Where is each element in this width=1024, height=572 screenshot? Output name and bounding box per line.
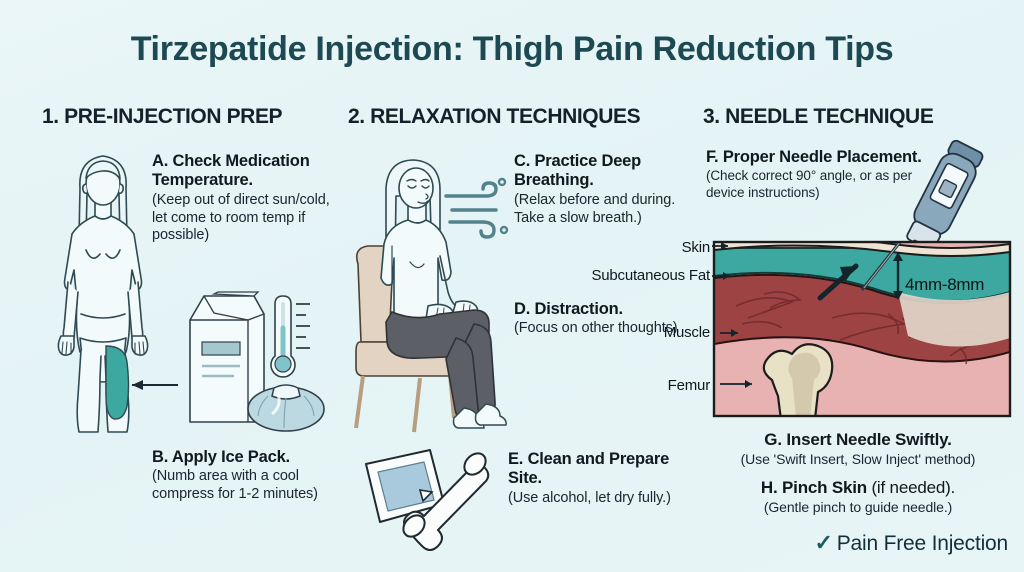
tip-b-heading: B. Apply Ice Pack. xyxy=(152,448,352,467)
tip-a-detail: (Keep out of direct sun/cold, let come t… xyxy=(152,192,348,245)
tip-f-heading: F. Proper Needle Placement. xyxy=(706,148,936,167)
tip-g-detail: (Use 'Swift Insert, Slow Inject' method) xyxy=(700,451,1016,468)
tip-h-heading-bold: H. Pinch Skin xyxy=(761,478,867,497)
tip-c-practice-deep-breathing: C. Practice Deep Breathing. (Relax befor… xyxy=(514,152,694,227)
tip-h-detail: (Gentle pinch to guide needle.) xyxy=(700,499,1016,516)
thigh-injection-site xyxy=(106,346,129,419)
tip-d-distraction: D. Distraction. (Focus on other thoughts… xyxy=(514,300,694,338)
tip-e-detail: (Use alcohol, let dry fully.) xyxy=(508,490,704,508)
tip-h-heading: H. Pinch Skin (if needed). xyxy=(700,478,1016,498)
tip-d-heading: D. Distraction. xyxy=(514,300,694,319)
tip-a-heading: A. Check Medication Temperature. xyxy=(152,152,348,191)
tip-a-check-medication-temperature: A. Check Medication Temperature. (Keep o… xyxy=(152,152,348,245)
section-heading-relaxation-techniques: 2. RELAXATION TECHNIQUES xyxy=(348,105,640,129)
tip-e-clean-and-prepare-site: E. Clean and Prepare Site. (Use alcohol,… xyxy=(508,450,704,508)
label-subcutaneous-fat-text: Subcutaneous Fat xyxy=(591,267,710,284)
tip-e-heading: E. Clean and Prepare Site. xyxy=(508,450,704,489)
tip-c-heading: C. Practice Deep Breathing. xyxy=(514,152,694,191)
label-skin: Skin xyxy=(640,240,710,256)
check-icon: ✓ xyxy=(814,530,832,555)
page-title: Tirzepatide Injection: Thigh Pain Reduct… xyxy=(0,30,1024,69)
section-heading-pre-injection-prep: 1. PRE-INJECTION PREP xyxy=(42,105,282,129)
tip-f-proper-needle-placement: F. Proper Needle Placement. (Check corre… xyxy=(706,148,936,201)
tip-b-detail: (Numb area with a cool compress for 1-2 … xyxy=(152,468,352,503)
infographic-poster: Tirzepatide Injection: Thigh Pain Reduct… xyxy=(0,0,1024,572)
tip-d-detail: (Focus on other thoughts) xyxy=(514,320,694,338)
tip-g-insert-needle-swiftly: G. Insert Needle Swiftly. (Use 'Swift In… xyxy=(700,430,1016,468)
pain-free-injection-label: Pain Free Injection xyxy=(837,532,1008,555)
seated-woman-illustration xyxy=(352,152,537,434)
depth-callout: 4mm-8mm xyxy=(905,275,984,295)
medication-supplies-illustration xyxy=(178,282,338,432)
alcohol-wipe-illustration xyxy=(358,444,508,559)
tip-c-detail: (Relax before and during. Take a slow br… xyxy=(514,192,694,227)
section-heading-needle-technique: 3. NEEDLE TECHNIQUE xyxy=(703,105,933,129)
breath-wind-icon xyxy=(446,179,507,237)
label-subcutaneous-fat: Subcutaneous Fat xyxy=(578,268,710,284)
thigh-pointer-arrow xyxy=(132,380,178,390)
label-femur: Femur xyxy=(620,378,710,394)
cross-section-leader-arrows xyxy=(690,236,810,396)
tip-b-apply-ice-pack: B. Apply Ice Pack. (Numb area with a coo… xyxy=(152,448,352,504)
tip-f-detail: (Check correct 90° angle, or as per devi… xyxy=(706,168,936,200)
tip-h-pinch-skin: H. Pinch Skin (if needed). (Gentle pinch… xyxy=(700,478,1016,516)
pain-free-injection-banner: ✓Pain Free Injection xyxy=(700,530,1016,556)
thermometer-icon xyxy=(271,296,310,377)
tip-h-heading-rest: (if needed). xyxy=(867,478,955,497)
tip-g-heading: G. Insert Needle Swiftly. xyxy=(700,430,1016,450)
